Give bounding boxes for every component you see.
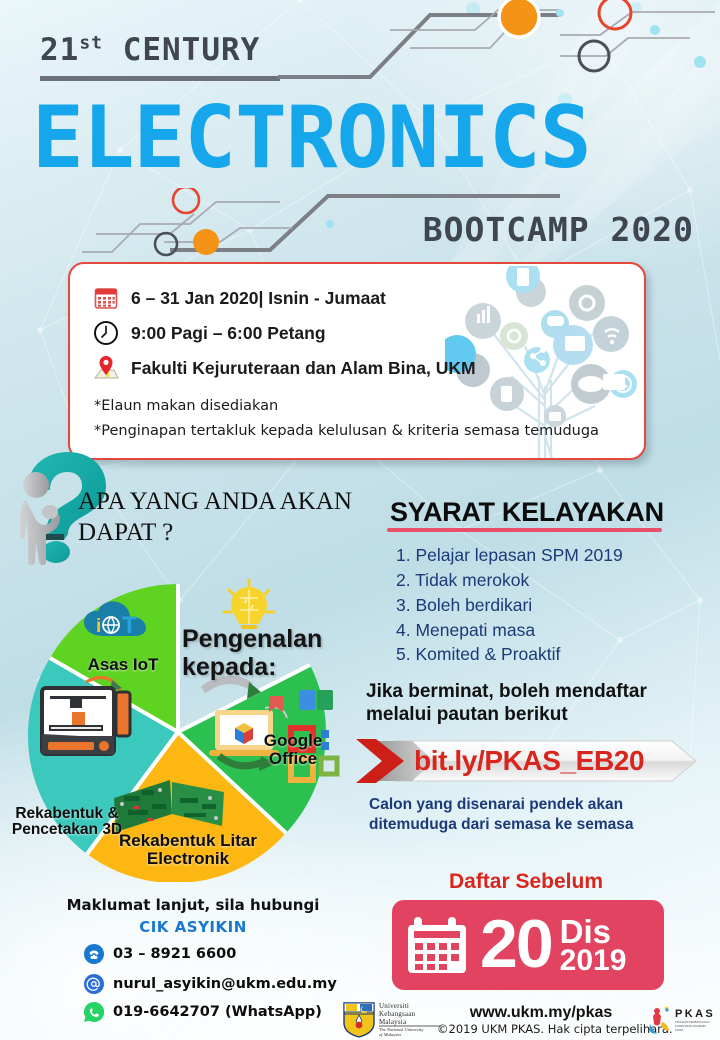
deadline-label: Daftar Sebelum <box>366 870 686 894</box>
contact-email-text: nurul_asyikin@ukm.edu.my <box>113 976 337 992</box>
ukm-name-3: Malaysia <box>379 1018 407 1026</box>
requirement-item: 3. Boleh berdikari <box>396 593 696 618</box>
registration-prompt-line1: Jika berminat, boleh mendaftar <box>366 680 706 703</box>
svg-text:SISWA: SISWA <box>675 1028 684 1032</box>
pkas-logo: PKAS PROGRAM PEMBANGUNAN KOMPETENSI AKAD… <box>648 1006 714 1036</box>
page-title: ELECTRONICS <box>32 95 692 181</box>
requirements-title: SYARAT KELAYAKAN <box>390 497 680 528</box>
telephone-icon <box>84 944 104 964</box>
shortlist-note-line1: Calon yang disenarai pendek akan <box>369 795 679 815</box>
registration-link-text[interactable]: bit.ly/PKAS_EB20 <box>414 744 684 778</box>
contact-row-whatsapp: 019-6642707 (WhatsApp) <box>84 1002 322 1022</box>
requirement-item: 2. Tidak merokok <box>396 568 696 593</box>
deadline-date-badge: 20 Dis 2019 <box>392 900 664 990</box>
eyebrow-word: CENTURY <box>123 32 261 68</box>
deadline-day: 20 <box>480 916 552 974</box>
eyebrow-number: 21 <box>40 32 79 68</box>
contact-whatsapp-text: 019-6642707 (WhatsApp) <box>113 1004 322 1020</box>
page-subtitle: BOOTCAMP 2020 <box>423 210 694 249</box>
requirements-underline <box>387 528 662 532</box>
pkas-wordmark: PKAS <box>675 1008 714 1020</box>
page-eyebrow: 21st CENTURY <box>40 32 260 68</box>
requirement-item: 1. Pelajar lepasan SPM 2019 <box>396 543 696 568</box>
ukm-name-1: Universiti <box>379 1002 409 1010</box>
contact-row-email: nurul_asyikin@ukm.edu.my <box>84 974 337 994</box>
pie-label-3d-line1: Rekabentuk & <box>2 806 132 822</box>
registration-prompt: Jika berminat, boleh mendaftar melalui p… <box>366 680 706 726</box>
ukm-name-2: Kebangsaan <box>379 1010 416 1018</box>
contact-heading: Maklumat lanjut, sila hubungi <box>58 896 328 914</box>
intro-heading-line1: Pengenalan <box>182 625 357 653</box>
contact-person: CIK ASYIKIN <box>58 918 328 936</box>
ukm-tagline-2: of Malaysia <box>379 1032 402 1037</box>
event-note-2: *Penginapan tertakluk kepada kelulusan &… <box>94 423 599 439</box>
copyright-text: ©2019 UKM PKAS. Hak cipta terpelihara. <box>437 1022 647 1036</box>
requirement-item: 5. Komited & Proaktif <box>396 642 696 667</box>
contact-row-phone: 03 – 8921 6600 <box>84 944 236 964</box>
requirement-item: 4. Menepati masa <box>396 618 696 643</box>
benefits-heading: APA YANG ANDA AKAN DAPAT ? <box>78 487 378 548</box>
event-venue-text: Fakulti Kejuruteraan dan Alam Bina, UKM <box>131 358 476 379</box>
eyebrow-ordinal: st <box>79 33 103 54</box>
ukm-logo: Universiti Kebangsaan Malaysia The Natio… <box>340 1000 444 1038</box>
pie-label-google-line1: Google <box>248 732 338 750</box>
at-sign-icon <box>84 974 104 994</box>
shortlist-note: Calon yang disenarai pendek akan ditemud… <box>369 795 679 835</box>
benefits-heading-line1: APA YANG ANDA AKAN <box>78 487 378 518</box>
deadline-month: Dis <box>560 916 627 947</box>
contact-phone-text: 03 – 8921 6600 <box>113 946 236 962</box>
pie-label-litar-line2: Electronik <box>108 850 268 868</box>
pie-label-google-line2: Office <box>248 750 338 768</box>
deadline-month-year: Dis 2019 <box>560 914 627 976</box>
info-row-venue: Fakulti Kejuruteraan dan Alam Bina, UKM <box>92 354 476 382</box>
clock-icon <box>92 319 120 347</box>
calendar-icon <box>92 284 120 312</box>
svg-text:KOMPETENSI AKADEMIK: KOMPETENSI AKADEMIK <box>675 1024 706 1028</box>
intro-heading-line2: kepada: <box>182 653 357 681</box>
requirements-list: 1. Pelajar lepasan SPM 2019 2. Tidak mer… <box>396 543 696 667</box>
intro-heading: Pengenalan kepada: <box>182 625 357 681</box>
info-row-date: 6 – 31 Jan 2020| Isnin - Jumaat <box>92 284 386 312</box>
poster-root: 21st CENTURY ELECTRONICS <box>0 0 720 1040</box>
svg-text:PROGRAM PEMBANGUNAN: PROGRAM PEMBANGUNAN <box>675 1020 710 1024</box>
whatsapp-icon <box>84 1002 104 1022</box>
shortlist-note-line2: ditemuduga dari semasa ke semasa <box>369 815 679 835</box>
eyebrow-rule <box>40 76 280 81</box>
thinking-person-icon <box>8 470 76 568</box>
pie-label-iot: Asas IoT <box>58 656 188 674</box>
svg-text:T: T <box>122 612 137 639</box>
event-time-text: 9:00 Pagi – 6:00 Petang <box>131 323 326 344</box>
info-row-time: 9:00 Pagi – 6:00 Petang <box>92 319 326 347</box>
event-note-1: *Elaun makan disediakan <box>94 398 278 414</box>
event-info-card: 6 – 31 Jan 2020| Isnin - Jumaat 9:00 Pag… <box>68 262 646 460</box>
deadline-year: 2019 <box>560 947 627 976</box>
registration-prompt-line2: melalui pautan berikut <box>366 703 706 726</box>
svg-text:i: i <box>96 616 101 637</box>
website-url[interactable]: www.ukm.my/pkas <box>446 1004 636 1022</box>
pie-label-circuit-design: Rekabentuk Litar Electronik <box>108 832 268 868</box>
pie-label-litar-line1: Rekabentuk Litar <box>108 832 268 850</box>
map-pin-icon <box>92 354 120 382</box>
pie-label-google-office: Google Office <box>248 732 338 768</box>
event-date-text: 6 – 31 Jan 2020| Isnin - Jumaat <box>131 288 386 309</box>
benefits-heading-line2: DAPAT ? <box>78 518 378 549</box>
calendar-icon <box>406 913 472 977</box>
